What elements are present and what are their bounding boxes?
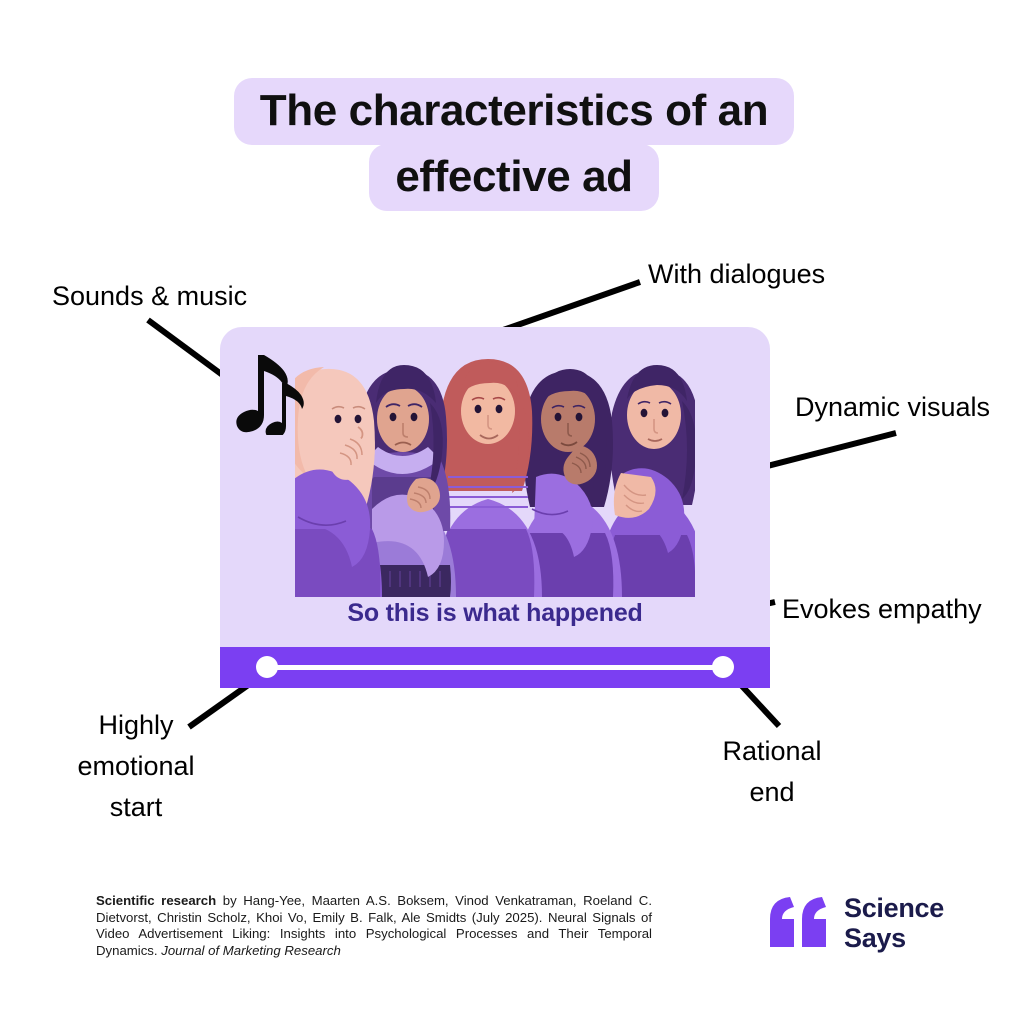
progress-handle-end[interactable] [712, 656, 734, 678]
citation-bold: Scientific research [96, 893, 216, 908]
page-title: The characteristics of an effective ad [0, 78, 1028, 210]
footer: Scientific research by Hang-Yee, Maarten… [0, 885, 1028, 985]
progress-handle-start[interactable] [256, 656, 278, 678]
brand-wordmark: Science Says [844, 893, 944, 953]
title-line-2: effective ad [0, 144, 1028, 210]
title-line-1-text: The characteristics of an [234, 78, 794, 145]
progress-track[interactable] [267, 665, 723, 670]
callout-rational-end: Rational end [706, 731, 838, 813]
callout-evokes-empathy: Evokes empathy [782, 589, 982, 630]
video-caption: So this is what happened [220, 599, 770, 628]
video-player[interactable]: So this is what happened [220, 327, 770, 688]
illustration-group-of-people [220, 327, 770, 597]
quote-mark-icon [768, 897, 830, 947]
brand-logo: Science Says [768, 893, 948, 955]
citation-journal: Journal of Marketing Research [161, 943, 341, 958]
callout-highly-emotional-start: Highly emotional start [60, 705, 212, 828]
callout-dynamic-visuals: Dynamic visuals [795, 387, 990, 428]
leader-line-rational-end [741, 685, 779, 726]
music-note-icon [236, 349, 308, 435]
brand-line-1: Science [844, 893, 944, 923]
title-line-1: The characteristics of an [0, 78, 1028, 144]
callout-sounds-music: Sounds & music [52, 276, 247, 317]
video-progress-bar[interactable] [220, 647, 770, 688]
callout-with-dialogues: With dialogues [648, 254, 825, 295]
citation-text: Scientific research by Hang-Yee, Maarten… [96, 893, 652, 959]
brand-line-2: Says [844, 923, 944, 953]
infographic-canvas: The characteristics of an effective ad [0, 0, 1028, 1028]
title-line-2-text: effective ad [369, 144, 658, 211]
player-screen: So this is what happened [220, 327, 770, 647]
